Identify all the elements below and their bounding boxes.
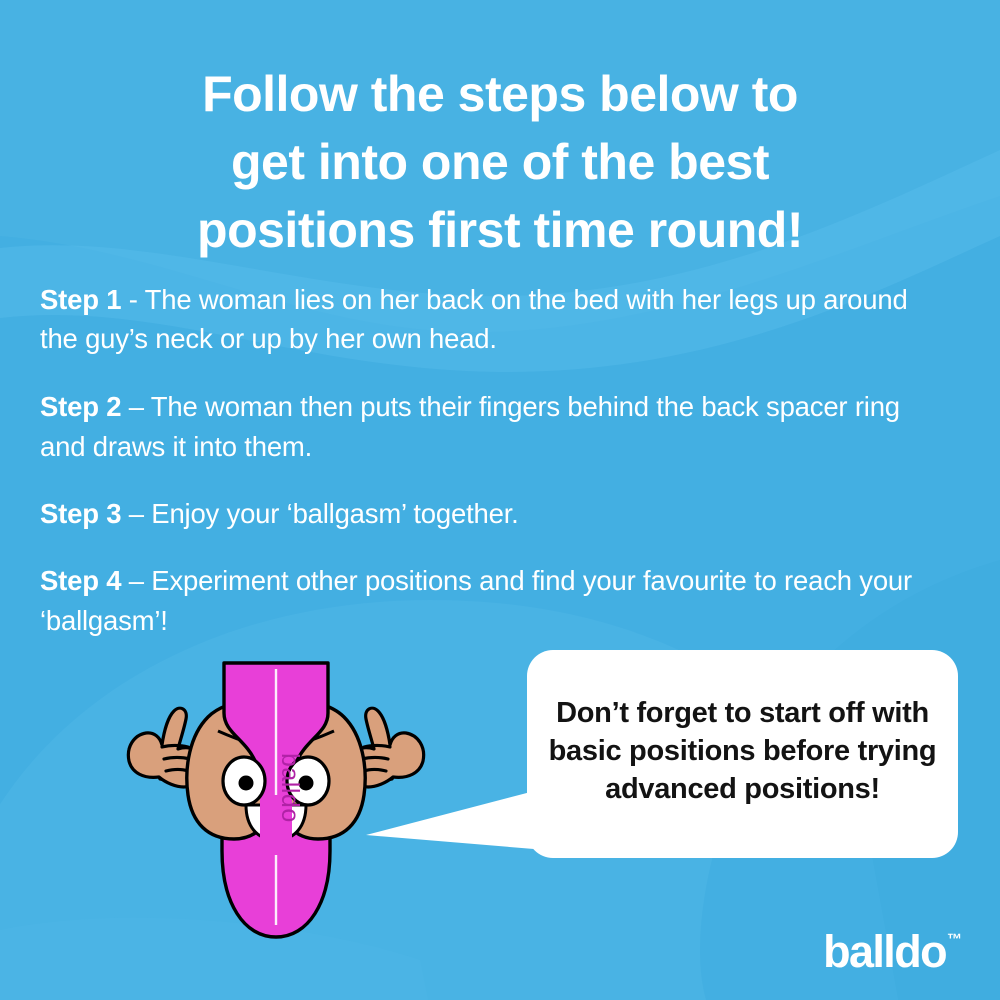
- balldo-mascot: balldo: [96, 655, 456, 945]
- brand-logo: balldo ™: [823, 929, 962, 974]
- page-title: Follow the steps below to get into one o…: [50, 60, 950, 264]
- step-label-1: Step 1: [40, 284, 121, 315]
- step-label-3: Step 3: [40, 498, 121, 529]
- speech-bubble-text: Don’t forget to start off with basic pos…: [545, 695, 940, 808]
- page-title-line-2: get into one of the best: [50, 128, 950, 196]
- step-label-4: Step 4: [40, 565, 121, 596]
- step-body-4: – Experiment other positions and find yo…: [40, 565, 912, 636]
- step-body-2: – The woman then puts their fingers behi…: [40, 391, 900, 462]
- mascot-eye-left: [223, 757, 265, 805]
- speech-bubble: Don’t forget to start off with basic pos…: [527, 650, 958, 858]
- mascot-brand-text: balldo: [276, 753, 304, 823]
- trademark-icon: ™: [947, 932, 962, 947]
- step-label-2: Step 2: [40, 391, 121, 422]
- step-item-3: Step 3 – Enjoy your ‘ballgasm’ together.: [40, 494, 940, 534]
- step-body-1: - The woman lies on her back on the bed …: [40, 284, 908, 355]
- step-item-2: Step 2 – The woman then puts their finge…: [40, 387, 940, 467]
- steps-list: Step 1 - The woman lies on her back on t…: [40, 252, 940, 641]
- page-title-line-1: Follow the steps below to: [50, 60, 950, 128]
- step-body-3: – Enjoy your ‘ballgasm’ together.: [121, 498, 518, 529]
- brand-logo-word: balldo: [823, 929, 946, 974]
- poster-canvas: Follow the steps below to get into one o…: [0, 0, 1000, 1000]
- step-item-1: Step 1 - The woman lies on her back on t…: [40, 280, 940, 360]
- step-item-4: Step 4 – Experiment other positions and …: [40, 561, 940, 641]
